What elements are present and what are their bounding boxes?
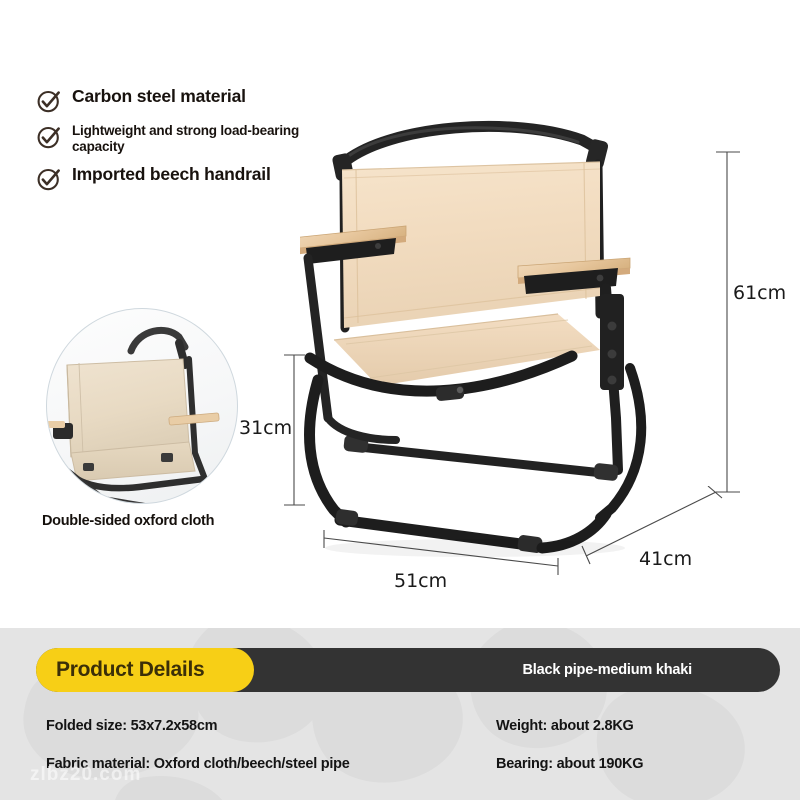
product-details-badge: Product Delails	[36, 648, 254, 692]
inset-detail: Double-sided oxford cloth	[46, 308, 242, 508]
dimension-line-height	[706, 140, 752, 510]
feature-item-carbon-steel: Carbon steel material	[36, 86, 306, 114]
check-circle-icon	[36, 88, 62, 114]
spec-weight: Weight: about 2.8KG	[496, 718, 634, 734]
feature-item-label: Lightweight and strong load-bearing capa…	[72, 123, 306, 155]
dimension-label-height: 61cm	[733, 282, 786, 304]
spec-fabric-material: Fabric material: Oxford cloth/beech/stee…	[46, 756, 350, 772]
feature-item-beech-handrail: Imported beech handrail	[36, 164, 306, 192]
details-header-bar: Product Delails Black pipe-medium khaki	[36, 648, 780, 692]
dimension-label-depth: 41cm	[639, 548, 692, 570]
spec-folded-size: Folded size: 53x7.2x58cm	[46, 718, 217, 734]
dimension-label-width: 51cm	[394, 570, 447, 592]
feature-list: Carbon steel material Lightweight and st…	[36, 86, 306, 201]
spec-bearing: Bearing: about 190KG	[496, 756, 643, 772]
variant-label: Black pipe-medium khaki	[523, 648, 692, 692]
dimension-label-seat-height: 31cm	[239, 417, 292, 439]
feature-item-lightweight: Lightweight and strong load-bearing capa…	[36, 123, 306, 155]
product-details-badge-label: Product Delails	[56, 658, 204, 682]
check-circle-icon	[36, 124, 62, 150]
hero-section: Carbon steel material Lightweight and st…	[0, 0, 800, 628]
chair-main-image	[300, 118, 730, 548]
product-details-section: Product Delails Black pipe-medium khaki …	[0, 628, 800, 800]
inset-caption: Double-sided oxford cloth	[42, 513, 302, 529]
dimension-line-width	[316, 528, 566, 576]
check-circle-icon	[36, 166, 62, 192]
inset-chair-rear-image	[46, 308, 238, 504]
feature-item-label: Carbon steel material	[72, 86, 246, 107]
feature-item-label: Imported beech handrail	[72, 164, 271, 185]
